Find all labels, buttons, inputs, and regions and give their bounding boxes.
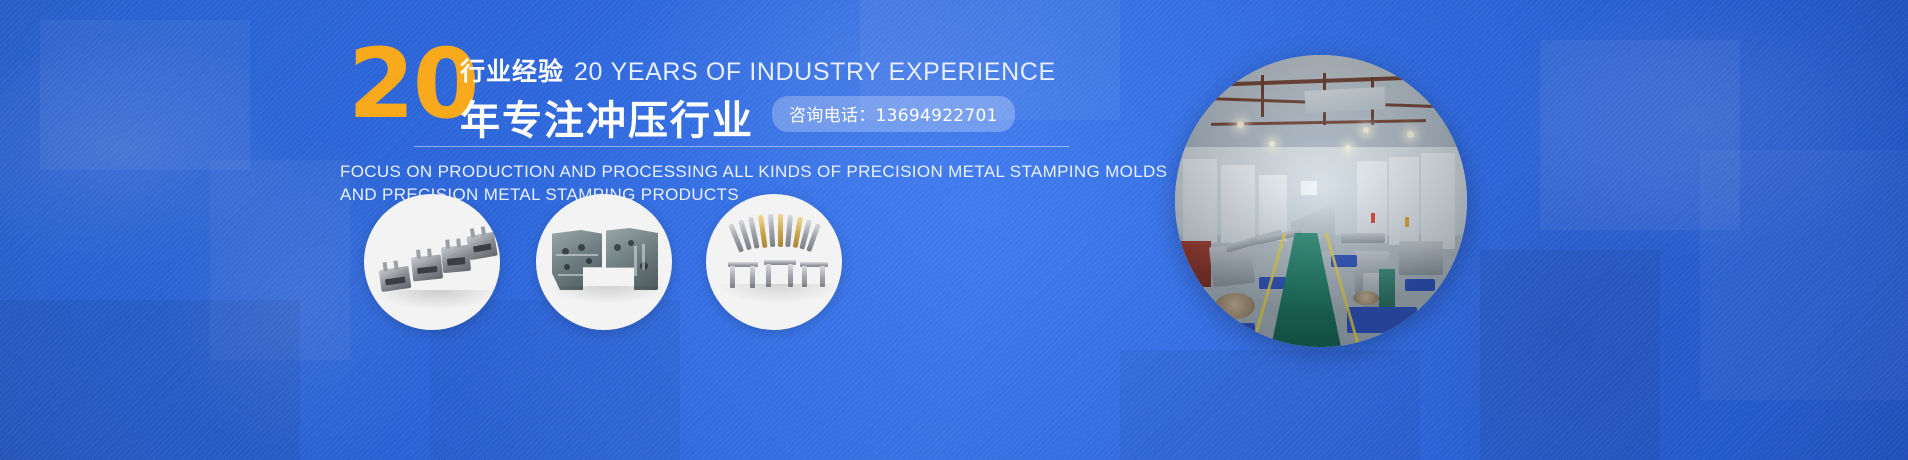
years-number: 20	[348, 36, 478, 132]
headline-block: 20 行业经验20 YEARS OF INDUSTRY EXPERIENCE 年…	[340, 40, 1100, 140]
headline-line-2: 年专注冲压行业咨询电话：13694922701	[460, 88, 1015, 146]
product-circle-usb-connectors[interactable]	[364, 194, 500, 330]
product-circle-terminal-pins[interactable]	[706, 194, 842, 330]
headline-divider	[414, 146, 1069, 147]
precision-stamping-die-photo	[536, 194, 672, 330]
headline-line-1: 行业经验20 YEARS OF INDUSTRY EXPERIENCE	[460, 52, 1056, 88]
tagline-line-1: FOCUS ON PRODUCTION AND PROCESSING ALL K…	[340, 160, 1080, 183]
headline-row: 20 行业经验20 YEARS OF INDUSTRY EXPERIENCE 年…	[340, 40, 1100, 140]
metal-terminal-pins-photo	[706, 194, 842, 330]
promo-banner: 20 行业经验20 YEARS OF INDUSTRY EXPERIENCE 年…	[0, 0, 1908, 460]
factory-photo-circle[interactable]	[1175, 55, 1467, 347]
headline-en-small: 20 YEARS OF INDUSTRY EXPERIENCE	[574, 58, 1056, 86]
headline-cn-small: 行业经验	[460, 57, 564, 86]
usb-connector-shells-photo	[364, 194, 500, 330]
product-circle-stamping-dies[interactable]	[536, 194, 672, 330]
phone-badge[interactable]: 咨询电话：13694922701	[772, 96, 1015, 132]
headline-cn-large: 年专注冲压行业	[460, 98, 754, 144]
